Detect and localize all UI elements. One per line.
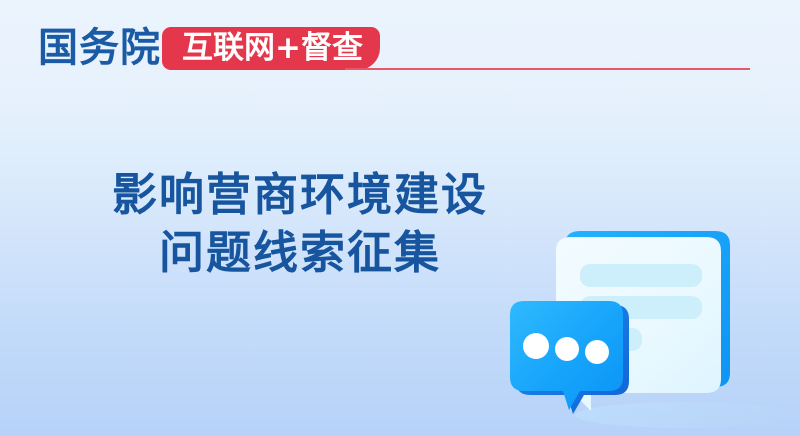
chat-bubbles-illustration [470, 215, 800, 436]
internet-plus-supervision-badge: 互联网+督查 [162, 27, 380, 70]
promo-banner: 国务院 互联网+督查 影响营商环境建设 问题线索征集 [0, 0, 800, 436]
badge-label: 互联网+督查 [182, 33, 363, 64]
header-divider-line [345, 68, 750, 70]
dot-2 [555, 337, 579, 361]
dot-1 [523, 333, 549, 359]
gov-council-logo: 国务院 [38, 26, 161, 70]
illustration-glow [575, 402, 795, 428]
bubble-text-line-1 [580, 264, 702, 287]
dot-3 [585, 340, 609, 364]
banner-header: 国务院 互联网+督查 [0, 0, 800, 96]
